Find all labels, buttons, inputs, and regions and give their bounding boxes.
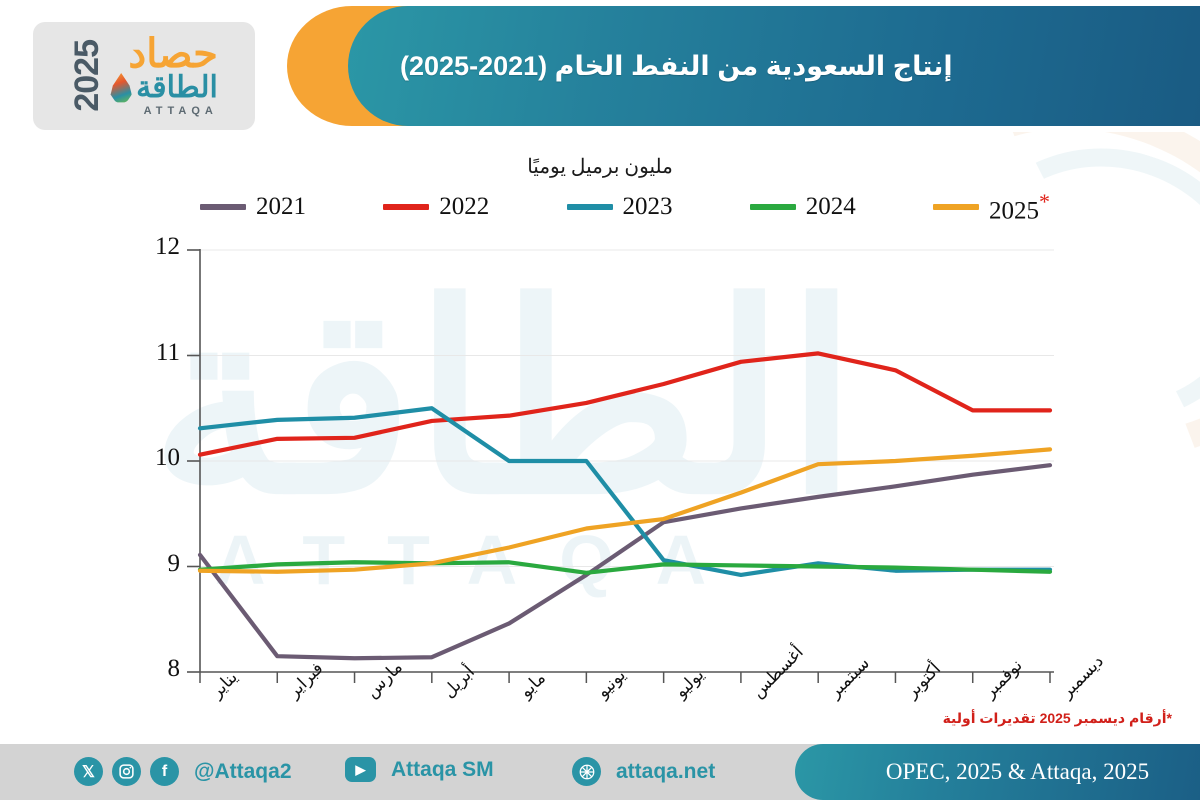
instagram-icon[interactable] <box>112 757 141 786</box>
social-group-main: 𝕏 f @Attaqa2 <box>74 757 292 786</box>
youtube-icon[interactable]: ▶ <box>345 757 376 782</box>
logo-brand-latin: ATTAQA <box>144 105 218 117</box>
logo-word-hasad: حصاد <box>128 35 217 73</box>
footer-source-band: OPEC, 2025 & Attaqa, 2025 <box>795 744 1200 800</box>
social-group-youtube: ▶ Attaqa SM <box>345 757 494 782</box>
y-axis-label-9: 9 <box>140 550 180 578</box>
attaqa-logo-icon[interactable] <box>572 757 601 786</box>
social-handle[interactable]: @Attaqa2 <box>194 760 292 784</box>
logo-word-attaqa: الطاقة <box>136 73 218 103</box>
chart-plot-area: 89101112ينايرفبرايرمارسأبريلمايويونيويول… <box>0 132 1200 732</box>
y-axis-label-11: 11 <box>140 339 180 367</box>
y-axis-label-10: 10 <box>140 444 180 472</box>
source-label: OPEC, 2025 & Attaqa, 2025 <box>846 759 1149 785</box>
website-label[interactable]: attaqa.net <box>616 760 715 784</box>
logo-year: 2025 <box>70 40 104 112</box>
energy-drop-icon <box>110 73 132 103</box>
youtube-handle[interactable]: Attaqa SM <box>391 758 494 782</box>
y-axis-label-8: 8 <box>140 655 180 683</box>
y-axis-label-12: 12 <box>140 233 180 261</box>
facebook-icon[interactable]: f <box>150 757 179 786</box>
social-group-website: attaqa.net <box>572 757 715 786</box>
page-footer: 𝕏 f @Attaqa2 ▶ Attaqa SM attaqa.net OPEC… <box>0 744 1200 800</box>
page-header: إنتاج السعودية من النفط الخام (2021-2025… <box>0 0 1200 132</box>
page-title: إنتاج السعودية من النفط الخام (2021-2025… <box>400 6 1170 126</box>
attaqa-logo: 2025 حصاد الطاقة ATTAQA <box>33 22 255 130</box>
x-icon[interactable]: 𝕏 <box>74 757 103 786</box>
chart-footnote: *أرقام ديسمبر 2025 تقديرات أولية <box>943 710 1172 727</box>
series-line-2022[interactable] <box>200 353 1050 454</box>
chart-container: مليون برميل يوميًا 20212022202320242025*… <box>0 132 1200 732</box>
chart-svg <box>0 132 1200 732</box>
